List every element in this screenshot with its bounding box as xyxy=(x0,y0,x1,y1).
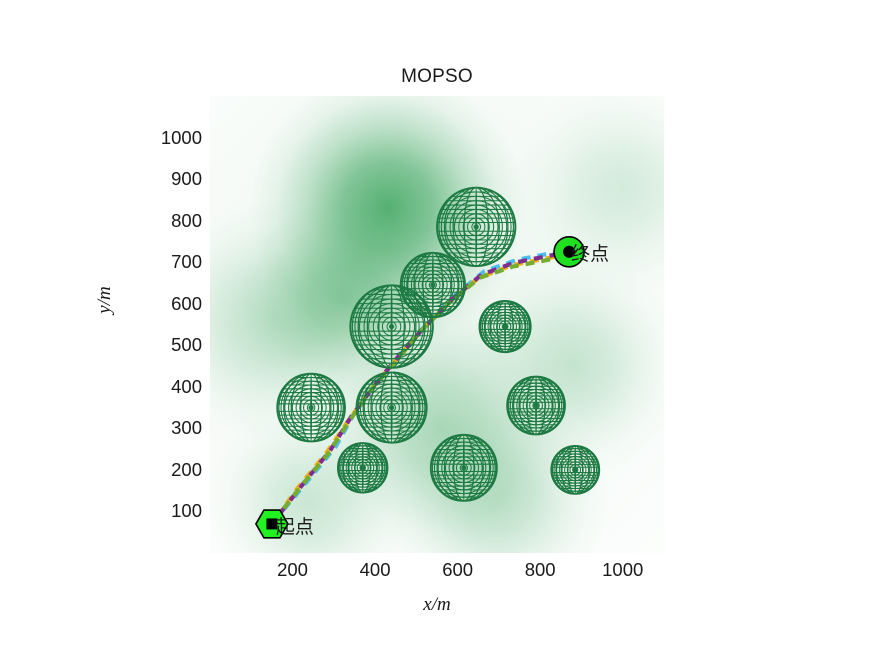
y-tick-label: 300 xyxy=(140,417,202,439)
start-point-label: 起点 xyxy=(276,512,314,539)
end-point-label: 终点 xyxy=(571,239,609,266)
y-tick-label: 200 xyxy=(140,459,202,481)
obstacle-sphere xyxy=(277,374,345,442)
x-axis-ticks: 2004006008001000 xyxy=(210,559,664,585)
y-tick-label: 500 xyxy=(140,334,202,356)
y-tick-label: 900 xyxy=(140,168,202,190)
obstacle-sphere xyxy=(338,443,388,493)
x-tick-label: 600 xyxy=(418,559,498,581)
obstacle-sphere xyxy=(350,285,433,368)
y-axis-ticks: 1002003004005006007008009001000 xyxy=(136,96,202,553)
obstacle-sphere xyxy=(431,435,497,501)
obstacle-sphere xyxy=(401,253,465,317)
page-title: MOPSO xyxy=(210,66,664,88)
y-axis-label: y/m xyxy=(94,286,116,313)
plot-axes xyxy=(210,96,664,553)
plot-overlay xyxy=(210,96,664,553)
y-tick-label: 400 xyxy=(140,376,202,398)
x-tick-label: 400 xyxy=(335,559,415,581)
figure-canvas: MOPSO 1002003004005006007008009001000 20… xyxy=(0,0,875,656)
x-tick-label: 200 xyxy=(253,559,333,581)
obstacle-sphere xyxy=(507,377,565,435)
x-axis-label: x/m xyxy=(210,594,664,616)
obstacle-sphere xyxy=(551,446,599,494)
x-tick-label: 800 xyxy=(500,559,580,581)
x-tick-label: 1000 xyxy=(583,559,663,581)
y-tick-label: 700 xyxy=(140,251,202,273)
y-tick-label: 800 xyxy=(140,210,202,232)
y-tick-label: 100 xyxy=(140,500,202,522)
obstacle-sphere xyxy=(480,301,531,352)
y-tick-label: 600 xyxy=(140,293,202,315)
y-tick-label: 1000 xyxy=(140,127,202,149)
obstacle-sphere xyxy=(437,188,515,266)
obstacle-sphere xyxy=(357,373,427,443)
